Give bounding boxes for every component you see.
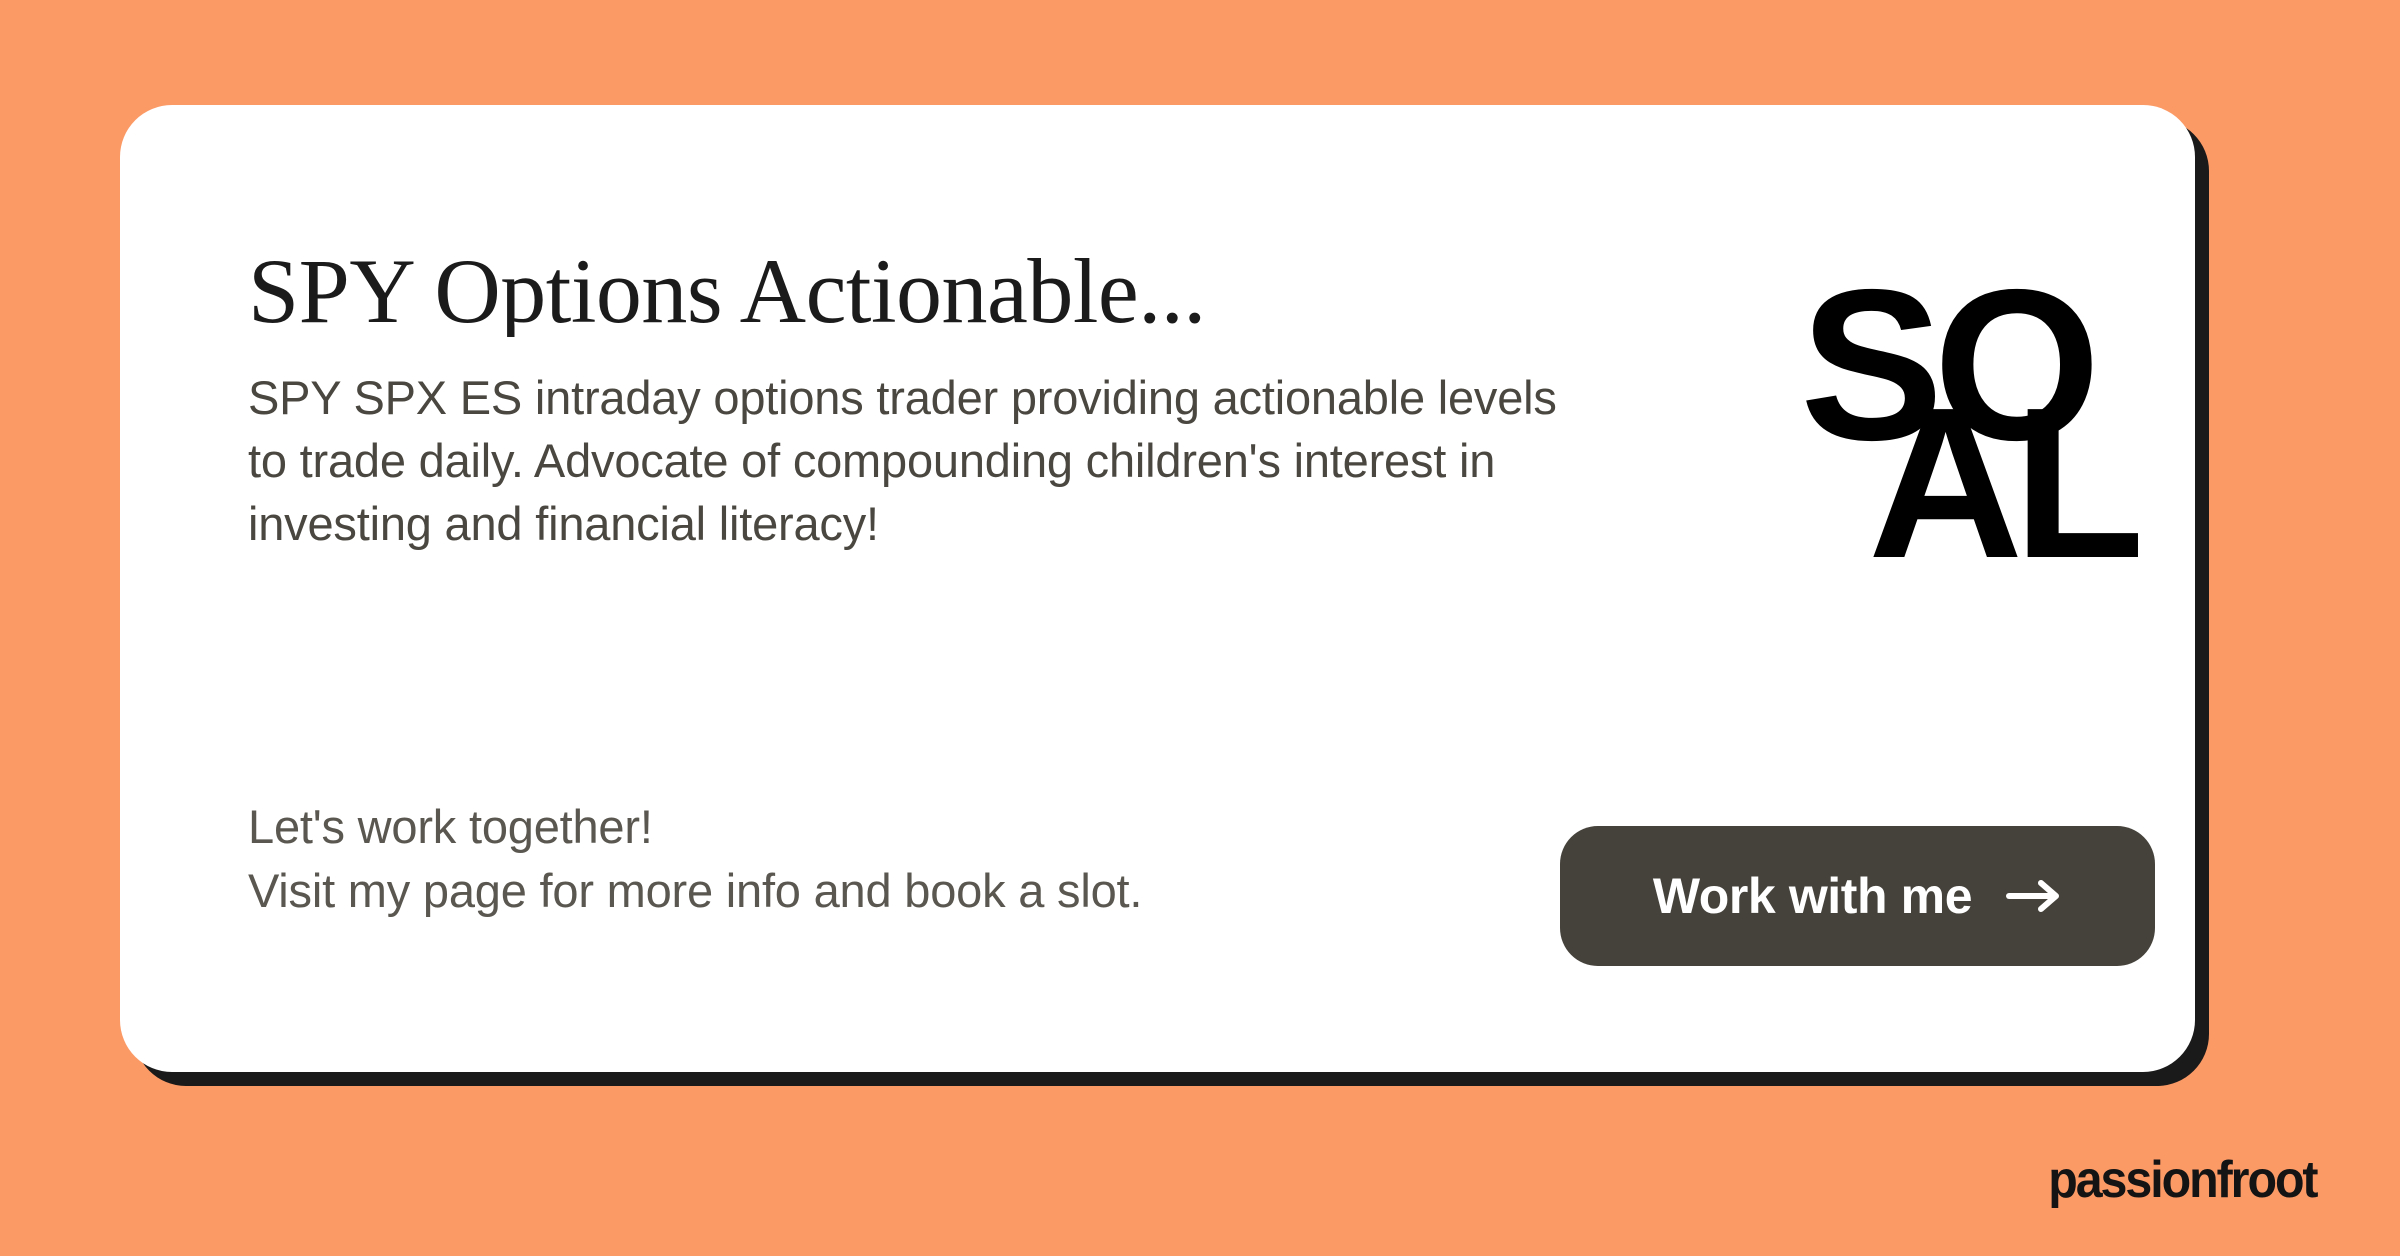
cta-text-block: Let's work together! Visit my page for m…	[248, 795, 1142, 923]
cta-line-1: Let's work together!	[248, 795, 1142, 859]
work-with-me-button[interactable]: Work with me	[1560, 826, 2155, 966]
card-description: SPY SPX ES intraday options trader provi…	[248, 367, 1568, 556]
page-title: SPY Options Actionable...	[248, 245, 1668, 337]
creator-card-stage: SPY Options Actionable... SPY SPX ES int…	[0, 0, 2400, 1256]
card-text-block: SPY Options Actionable... SPY SPX ES int…	[248, 245, 1668, 556]
cta-line-2: Visit my page for more info and book a s…	[248, 859, 1142, 923]
soal-logo: SO AL	[1800, 273, 2100, 603]
creator-card: SPY Options Actionable... SPY SPX ES int…	[120, 105, 2195, 1072]
work-with-me-label: Work with me	[1653, 867, 1972, 925]
creator-card-container: SPY Options Actionable... SPY SPX ES int…	[120, 105, 2195, 1072]
arrow-right-icon	[2006, 879, 2062, 913]
logo-line-bottom: AL	[1868, 391, 2135, 576]
passionfroot-wordmark: passionfroot	[2048, 1150, 2316, 1210]
